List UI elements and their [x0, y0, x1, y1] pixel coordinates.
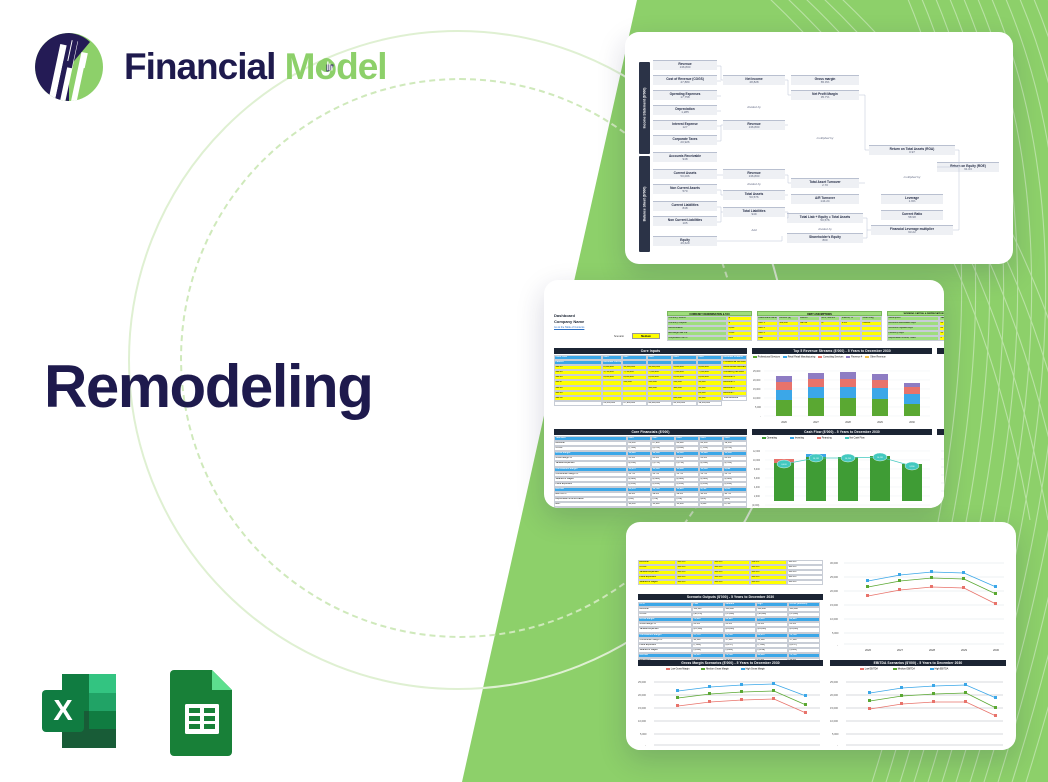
- chart-revenue-streams[interactable]: Professional Services Retail Retail Manu…: [752, 356, 932, 428]
- svg-text:15,000: 15,000: [830, 603, 838, 607]
- chart-title-profitability: Profitability ($'000) - 5 Years to Decem…: [937, 348, 944, 354]
- svg-text:20,000: 20,000: [830, 589, 838, 593]
- app-icon-row: X: [32, 664, 248, 758]
- table-cell[interactable]: (131): [699, 507, 723, 508]
- table-cell[interactable]: 5: [939, 336, 944, 341]
- table-cell[interactable]: [820, 336, 841, 341]
- logo-o-mark: o: [315, 46, 337, 88]
- svg-text:2030: 2030: [993, 749, 999, 750]
- section-title-scenario-outputs: Scenario Outputs ($'000) - 5 Years to De…: [638, 594, 823, 600]
- svg-text:30,000: 30,000: [830, 561, 838, 565]
- svg-text:2027: 2027: [813, 421, 819, 424]
- scenario-sheet: Revenue100.0%100.0%110.0%100.0%COGS100.0…: [638, 532, 1004, 740]
- brand-name: Financial Mo del: [124, 46, 387, 88]
- chart-title-gross-margin-scenarios: Gross Margin Scenarios ($'000) - 5 Years…: [638, 660, 823, 666]
- svg-text:10,000: 10,000: [638, 719, 646, 723]
- dupont-flowchart: Income Statement ($'000) Balance Sheet (…: [637, 44, 1001, 252]
- svg-text:2027: 2027: [899, 749, 905, 750]
- chart-gross-margin-svg: 25,00020,00015,000 10,0005,000-: [638, 668, 823, 750]
- section-title-core-financials: Core Financials ($'000): [554, 429, 747, 435]
- chart-investment-payback[interactable]: Payback year Cumulative Cash Generated (…: [937, 437, 944, 508]
- table-cell[interactable]: 21,050,000: [602, 401, 622, 406]
- flowchart-connectors: [637, 44, 1001, 252]
- screenshot-card-dupont-flowchart[interactable]: Income Statement ($'000) Balance Sheet (…: [625, 32, 1013, 264]
- table-core-financials[interactable]: Year/Item20262027202820292030Revenue21,0…: [554, 436, 747, 508]
- chart-scenario-trend[interactable]: 30,00025,00020,000 15,00010,0005,000-: [830, 554, 1006, 648]
- table-cell[interactable]: 27,950,000: [622, 401, 647, 406]
- table-cell[interactable]: 20,150,000: [672, 401, 697, 406]
- table-cell[interactable]: 30%: [727, 336, 752, 341]
- svg-text:20,000: 20,000: [830, 693, 838, 697]
- svg-text:25,000: 25,000: [830, 680, 838, 684]
- brand-name-secondary: Mo del: [285, 46, 387, 87]
- table-cell[interactable]: 28,400,000: [647, 401, 672, 406]
- table-currency-assumptions[interactable]: Currency Source$Currency Outputs$Denomin…: [667, 316, 752, 341]
- table-scenario-outputs[interactable]: KPIsLowMediumHighActive (Medium)Revenue1…: [638, 602, 823, 663]
- table-cell[interactable]: Interest Expense: [554, 507, 627, 508]
- table-cell[interactable]: 100.0%: [676, 580, 713, 585]
- section-title-core-inputs: Core Inputs: [554, 348, 747, 354]
- svg-text:10,000: 10,000: [753, 397, 761, 400]
- svg-text:25,000: 25,000: [830, 575, 838, 579]
- svg-text:5,000: 5,000: [755, 406, 762, 409]
- table-cell[interactable]: [861, 336, 882, 341]
- chart-gross-margin-scenarios[interactable]: Low Gross Margin Medium Gross Margin Hig…: [638, 668, 823, 750]
- table-core-inputs[interactable]: Cash Flow20262027202820292030Revenue Str…: [554, 355, 747, 406]
- svg-text:15,000: 15,000: [753, 388, 761, 391]
- svg-text:2030: 2030: [993, 648, 999, 652]
- table-cell[interactable]: (288): [627, 507, 651, 508]
- table-cell[interactable]: 100.0%: [787, 580, 823, 585]
- svg-text:10,000: 10,000: [830, 719, 838, 723]
- chart-ebitda-svg: 25,00020,00015,000 10,0005,000-: [830, 668, 1006, 750]
- svg-text:2029: 2029: [771, 749, 777, 750]
- svg-text:25,000: 25,000: [753, 370, 761, 373]
- svg-text:20,000: 20,000: [638, 693, 646, 697]
- svg-text:8,000: 8,000: [754, 469, 760, 471]
- svg-text:5,000: 5,000: [832, 732, 839, 736]
- pie-bar-chart-logo-icon: [32, 30, 106, 104]
- svg-text:2,000: 2,000: [754, 496, 760, 498]
- chart-investment-payback-svg: 35,00030,00025,000 20,00015,00010,0005,0…: [937, 437, 944, 508]
- svg-text:25,000: 25,000: [638, 680, 646, 684]
- dashboard-subtitle: Company Name: [554, 319, 584, 324]
- svg-text:2026: 2026: [867, 749, 873, 750]
- svg-text:5,000: 5,000: [640, 732, 647, 736]
- table-cell[interactable]: 100.0%: [750, 580, 787, 585]
- svg-text:6,000: 6,000: [754, 478, 760, 480]
- table-scenario-assumptions[interactable]: Revenue100.0%100.0%110.0%100.0%COGS100.0…: [638, 560, 823, 585]
- chart-cash-flow-svg: 12,00010,0008,000 6,0004,0002,000 (2,000…: [752, 437, 932, 508]
- svg-text:2028: 2028: [931, 749, 937, 750]
- svg-text:9,596: 9,596: [909, 466, 915, 468]
- chart-cash-flow[interactable]: Operating Investing Financing Net Cash F…: [752, 437, 932, 508]
- svg-text:(2,000): (2,000): [752, 505, 760, 507]
- svg-text:-: -: [837, 644, 838, 647]
- svg-text:2027: 2027: [897, 648, 903, 652]
- svg-text:2029: 2029: [961, 648, 967, 652]
- dashboard-sheet: Dashboard Company Name Go to the Table o…: [554, 289, 934, 499]
- svg-text:2026: 2026: [781, 421, 787, 424]
- svg-text:4,000: 4,000: [754, 487, 760, 489]
- svg-text:10,000: 10,000: [830, 617, 838, 621]
- chart-ebitda-scenarios[interactable]: Low EBITDA Medium EBITDA High EBITDA 25,…: [830, 668, 1006, 750]
- table-cell[interactable]: [554, 401, 602, 406]
- table-of-contents-link[interactable]: Go to the Table of Contents: [554, 326, 584, 329]
- table-cell[interactable]: Total Revenue: [722, 396, 747, 401]
- svg-text:2026: 2026: [865, 648, 871, 652]
- table-cell[interactable]: (189): [675, 507, 699, 508]
- svg-text:-: -: [760, 415, 761, 418]
- chart-title-revenue-streams: Top 5 Revenue Streams ($'000) - 5 Years …: [752, 348, 932, 354]
- svg-text:2028: 2028: [845, 421, 851, 424]
- dashboard-title: Dashboard: [554, 313, 575, 318]
- chart-profitability-svg: 48.8%49.0%49.0%48.5%48.7% 21,050(7,368) …: [937, 356, 944, 428]
- scenario-dropdown[interactable]: Medium: [632, 333, 660, 339]
- svg-text:5,000: 5,000: [832, 631, 839, 635]
- table-working-capital[interactable]: AssumptionValueAccounts Receivable Days3…: [887, 316, 944, 341]
- table-debt-assumptions[interactable]: Loan/Grant NameAmount ($)LaunchTerm, Mon…: [757, 316, 882, 341]
- left-content-panel: Financial Mo del Remodeling X: [0, 0, 470, 782]
- svg-text:10,191: 10,191: [813, 458, 820, 460]
- svg-text:-: -: [837, 744, 838, 747]
- svg-text:2028: 2028: [929, 648, 935, 652]
- svg-text:2027: 2027: [707, 749, 713, 750]
- microsoft-excel-icon[interactable]: X: [32, 664, 126, 758]
- svg-text:X: X: [53, 695, 73, 727]
- chart-title-investment-payback: Investment Payback Chart ($'000) - 5 Yea…: [937, 429, 944, 435]
- svg-text:2028: 2028: [739, 749, 745, 750]
- chart-revenue-streams-svg: 25,00020,000 15,00010,000 5,000-: [752, 356, 932, 428]
- table-cell[interactable]: (242): [651, 507, 675, 508]
- svg-text:2029: 2029: [963, 749, 969, 750]
- table-cell[interactable]: (62): [723, 507, 747, 508]
- chart-title-cash-flow: Cash Flow ($'000) - 5 Years to December …: [752, 429, 932, 435]
- svg-text:10,291: 10,291: [877, 457, 884, 459]
- table-cell[interactable]: Salaries & Wages: [638, 580, 676, 585]
- chart-title-ebitda-scenarios: EBITDA Scenarios ($'000) - 5 Years to De…: [830, 660, 1006, 666]
- table-cell[interactable]: total: [757, 336, 778, 341]
- table-cell[interactable]: 19,150,000: [697, 401, 722, 406]
- table-cell[interactable]: [778, 336, 799, 341]
- table-cell[interactable]: 100.0%: [713, 580, 750, 585]
- svg-text:15,000: 15,000: [638, 706, 646, 710]
- svg-text:-: -: [645, 744, 646, 747]
- screenshot-card-dashboard[interactable]: Dashboard Company Name Go to the Table o…: [544, 280, 944, 508]
- table-cell[interactable]: [799, 336, 820, 341]
- google-sheets-icon[interactable]: [154, 664, 248, 758]
- brand-name-primary: Financial: [124, 46, 275, 87]
- svg-text:10,245: 10,245: [845, 458, 852, 460]
- page-title: Remodeling: [44, 352, 372, 421]
- table-cell[interactable]: Depreciation Period, Years: [887, 336, 939, 341]
- svg-text:15,000: 15,000: [830, 706, 838, 710]
- brand-logo-row: Financial Mo del: [32, 30, 387, 104]
- chart-scenario-trend-svg: 30,00025,00020,000 15,00010,0005,000-: [830, 554, 1006, 648]
- screenshot-card-scenarios[interactable]: Revenue100.0%100.0%110.0%100.0%COGS100.0…: [626, 522, 1016, 750]
- svg-text:12,000: 12,000: [753, 451, 761, 453]
- svg-text:20,000: 20,000: [753, 379, 761, 382]
- table-cell[interactable]: Corporation Tax %: [667, 336, 727, 341]
- chart-profitability[interactable]: Revenue EBITDA EBITDA %: [937, 356, 944, 428]
- table-cell[interactable]: [840, 336, 861, 341]
- svg-text:6,403: 6,403: [781, 464, 787, 466]
- svg-text:10,000: 10,000: [753, 460, 761, 462]
- scenario-label: Scenario: [614, 335, 624, 338]
- svg-text:2030: 2030: [909, 421, 915, 424]
- svg-text:2030: 2030: [803, 749, 809, 750]
- svg-text:2029: 2029: [877, 421, 883, 424]
- svg-text:2026: 2026: [675, 749, 681, 750]
